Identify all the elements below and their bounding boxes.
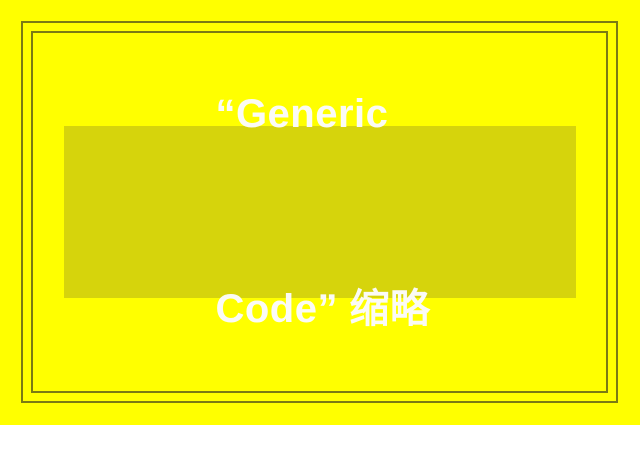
headline-line-1: “Generic — [215, 82, 430, 147]
headline-line-2: Code” 缩略 — [215, 277, 430, 342]
headline-text: “Generic Code” 缩略 — [209, 0, 430, 472]
headline-banner: “Generic Code” 缩略 — [64, 126, 576, 298]
poster-canvas: “Generic Code” 缩略 — [0, 0, 640, 425]
